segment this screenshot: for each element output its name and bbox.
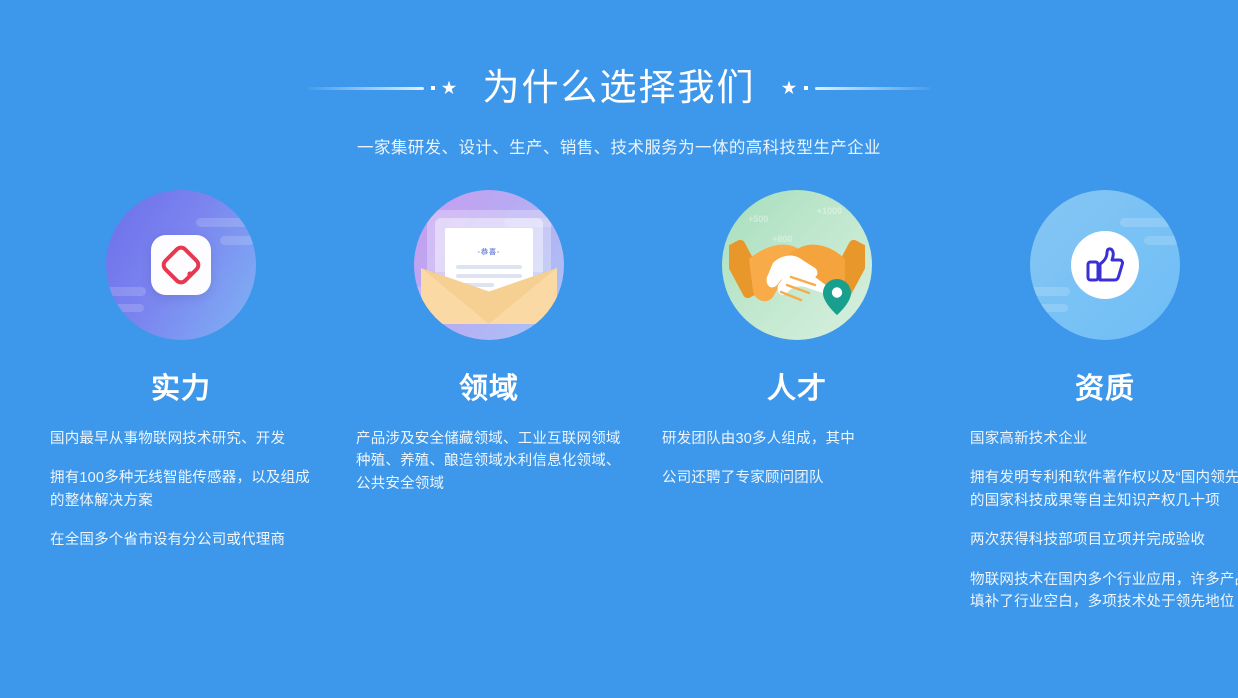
decoration-star-icon: [442, 81, 457, 96]
handshake-icon: [729, 205, 865, 325]
thumbs-up-icon: [1084, 244, 1126, 286]
streak-decor: [1030, 287, 1070, 296]
diamond-token-icon: [159, 243, 203, 287]
card-points-talent: 研发团队由30多人组成，其中 公司还聘了专家顾问团队: [652, 428, 942, 490]
card-title-strength: 实力: [151, 374, 211, 406]
letter-line: [456, 274, 522, 278]
feature-card-list: 实力 国内最早从事物联网技术研究、开发 拥有100多种无线智能传感器，以及组成的…: [0, 190, 1238, 614]
card-point: 两次获得科技部项目立项并完成验收: [970, 529, 1238, 551]
decoration-line-icon: [308, 87, 424, 90]
streak-decor: [196, 218, 248, 227]
icon-badge-strength: [106, 190, 256, 340]
card-point: 研发团队由30多人组成，其中: [662, 428, 928, 450]
streak-decor: [106, 287, 146, 296]
diamond-token-tile: [151, 235, 211, 295]
decoration-line-icon: [815, 87, 931, 90]
card-point: 国家高新技术企业: [970, 428, 1238, 450]
feature-card-qualification: 资质 国家高新技术企业 拥有发明专利和软件著作权以及“国内领先”的国家科技成果等…: [960, 190, 1238, 614]
page-header: 为什么选择我们 一家集研发、设计、生产、销售、技术服务为一体的高科技型生产企业: [0, 0, 1238, 158]
page-subtitle: 一家集研发、设计、生产、销售、技术服务为一体的高科技型生产企业: [0, 134, 1238, 158]
card-title-fields: 领域: [459, 374, 519, 406]
decoration-star-icon: [782, 81, 797, 96]
card-point: 在全国多个省市设有分公司或代理商: [50, 529, 322, 551]
letter-line: [456, 265, 522, 269]
title-decoration-left: [308, 78, 457, 98]
streak-decor: [1120, 218, 1172, 227]
thumbs-up-disc: [1071, 231, 1139, 299]
streak-decor: [1144, 236, 1178, 245]
card-points-strength: 国内最早从事物联网技术研究、开发 拥有100多种无线智能传感器，以及组成的整体解…: [36, 428, 326, 552]
card-points-fields: 产品涉及安全储藏领域、工业互联网领域种殖、养殖、酿造领域水利信息化领域、公共安全…: [344, 428, 634, 495]
card-point: 拥有发明专利和软件著作权以及“国内领先”的国家科技成果等自主知识产权几十项: [970, 467, 1238, 512]
card-points-qualification: 国家高新技术企业 拥有发明专利和软件著作权以及“国内领先”的国家科技成果等自主知…: [960, 428, 1238, 614]
streak-decor: [114, 304, 144, 312]
decoration-dot-icon: [431, 86, 435, 90]
map-pin-icon: [823, 279, 851, 315]
card-point: 物联网技术在国内多个行业应用，许多产品填补了行业空白，多项技术处于领先地位: [970, 569, 1238, 614]
card-title-talent: 人才: [767, 374, 827, 406]
card-title-qualification: 资质: [1075, 374, 1135, 406]
title-decoration-right: [782, 78, 931, 98]
feature-card-talent: +500 +1000 +800: [652, 190, 942, 490]
card-point: 拥有100多种无线智能传感器，以及组成的整体解决方案: [50, 467, 322, 512]
card-point: 公司还聘了专家顾问团队: [662, 467, 928, 489]
streak-decor: [1038, 304, 1068, 312]
decoration-dot-icon: [804, 86, 808, 90]
title-row: 为什么选择我们: [0, 62, 1238, 114]
icon-badge-fields: -恭喜-: [414, 190, 564, 340]
card-point: 产品涉及安全储藏领域、工业互联网领域种殖、养殖、酿造领域水利信息化领域、公共安全…: [356, 428, 632, 495]
letter-title: -恭喜-: [445, 247, 533, 257]
icon-badge-talent: +500 +1000 +800: [722, 190, 872, 340]
envelope-letter-icon: -恭喜-: [421, 206, 557, 324]
page-title: 为什么选择我们: [457, 62, 782, 114]
icon-badge-qualification: [1030, 190, 1180, 340]
streak-decor: [220, 236, 254, 245]
feature-card-fields: -恭喜- 领域 产品涉及安全储藏领域、工业互联网领域种殖、养殖、酿造领域水利信息…: [344, 190, 634, 495]
card-point: 国内最早从事物联网技术研究、开发: [50, 428, 322, 450]
feature-card-strength: 实力 国内最早从事物联网技术研究、开发 拥有100多种无线智能传感器，以及组成的…: [36, 190, 326, 552]
